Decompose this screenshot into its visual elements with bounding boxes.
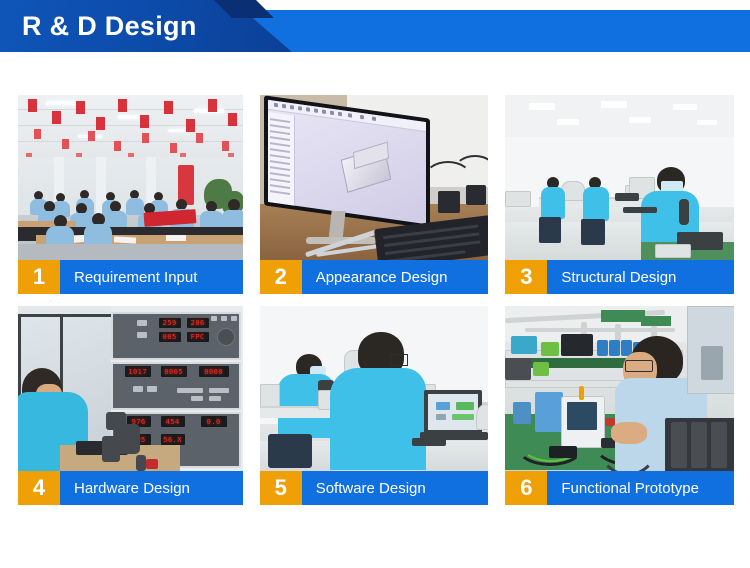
card-caption: Appearance Design <box>302 260 489 294</box>
card-label: 5 Software Design <box>260 471 489 505</box>
card-structural-design[interactable]: 3 Structural Design <box>505 95 734 294</box>
photo-instrument-rack: 259 206 005 FPC 1017 0005 0000 <box>18 306 243 471</box>
card-caption: Hardware Design <box>60 471 243 505</box>
photo-cad-monitor <box>260 95 489 260</box>
card-appearance-design[interactable]: 2 Appearance Design <box>260 95 489 294</box>
card-label: 2 Appearance Design <box>260 260 489 294</box>
card-functional-prototype[interactable]: 6 Functional Prototype <box>505 306 734 505</box>
photo-meeting-room <box>18 95 243 260</box>
card-row-1: 1 Requirement Input <box>18 95 734 294</box>
card-label: 6 Functional Prototype <box>505 471 734 505</box>
photo-clean-lab <box>505 95 734 260</box>
card-row-2: 259 206 005 FPC 1017 0005 0000 <box>18 306 734 505</box>
card-caption: Software Design <box>302 471 489 505</box>
card-grid: 1 Requirement Input <box>18 95 734 517</box>
card-hardware-design[interactable]: 259 206 005 FPC 1017 0005 0000 <box>18 306 243 505</box>
card-number: 5 <box>260 471 302 505</box>
card-label: 1 Requirement Input <box>18 260 243 294</box>
photo-engineers-laptop <box>260 306 489 471</box>
card-caption: Functional Prototype <box>547 471 734 505</box>
card-number: 4 <box>18 471 60 505</box>
card-number: 1 <box>18 260 60 294</box>
monitor <box>264 95 430 228</box>
card-number: 6 <box>505 471 547 505</box>
card-caption: Structural Design <box>547 260 734 294</box>
card-caption: Requirement Input <box>60 260 243 294</box>
photo-production-floor <box>505 306 734 471</box>
card-requirement-input[interactable]: 1 Requirement Input <box>18 95 243 294</box>
card-label: 4 Hardware Design <box>18 471 243 505</box>
card-number: 3 <box>505 260 547 294</box>
page-title: R & D Design <box>22 6 197 46</box>
card-software-design[interactable]: 5 Software Design <box>260 306 489 505</box>
page-header: R & D Design <box>0 0 750 52</box>
card-label: 3 Structural Design <box>505 260 734 294</box>
card-number: 2 <box>260 260 302 294</box>
